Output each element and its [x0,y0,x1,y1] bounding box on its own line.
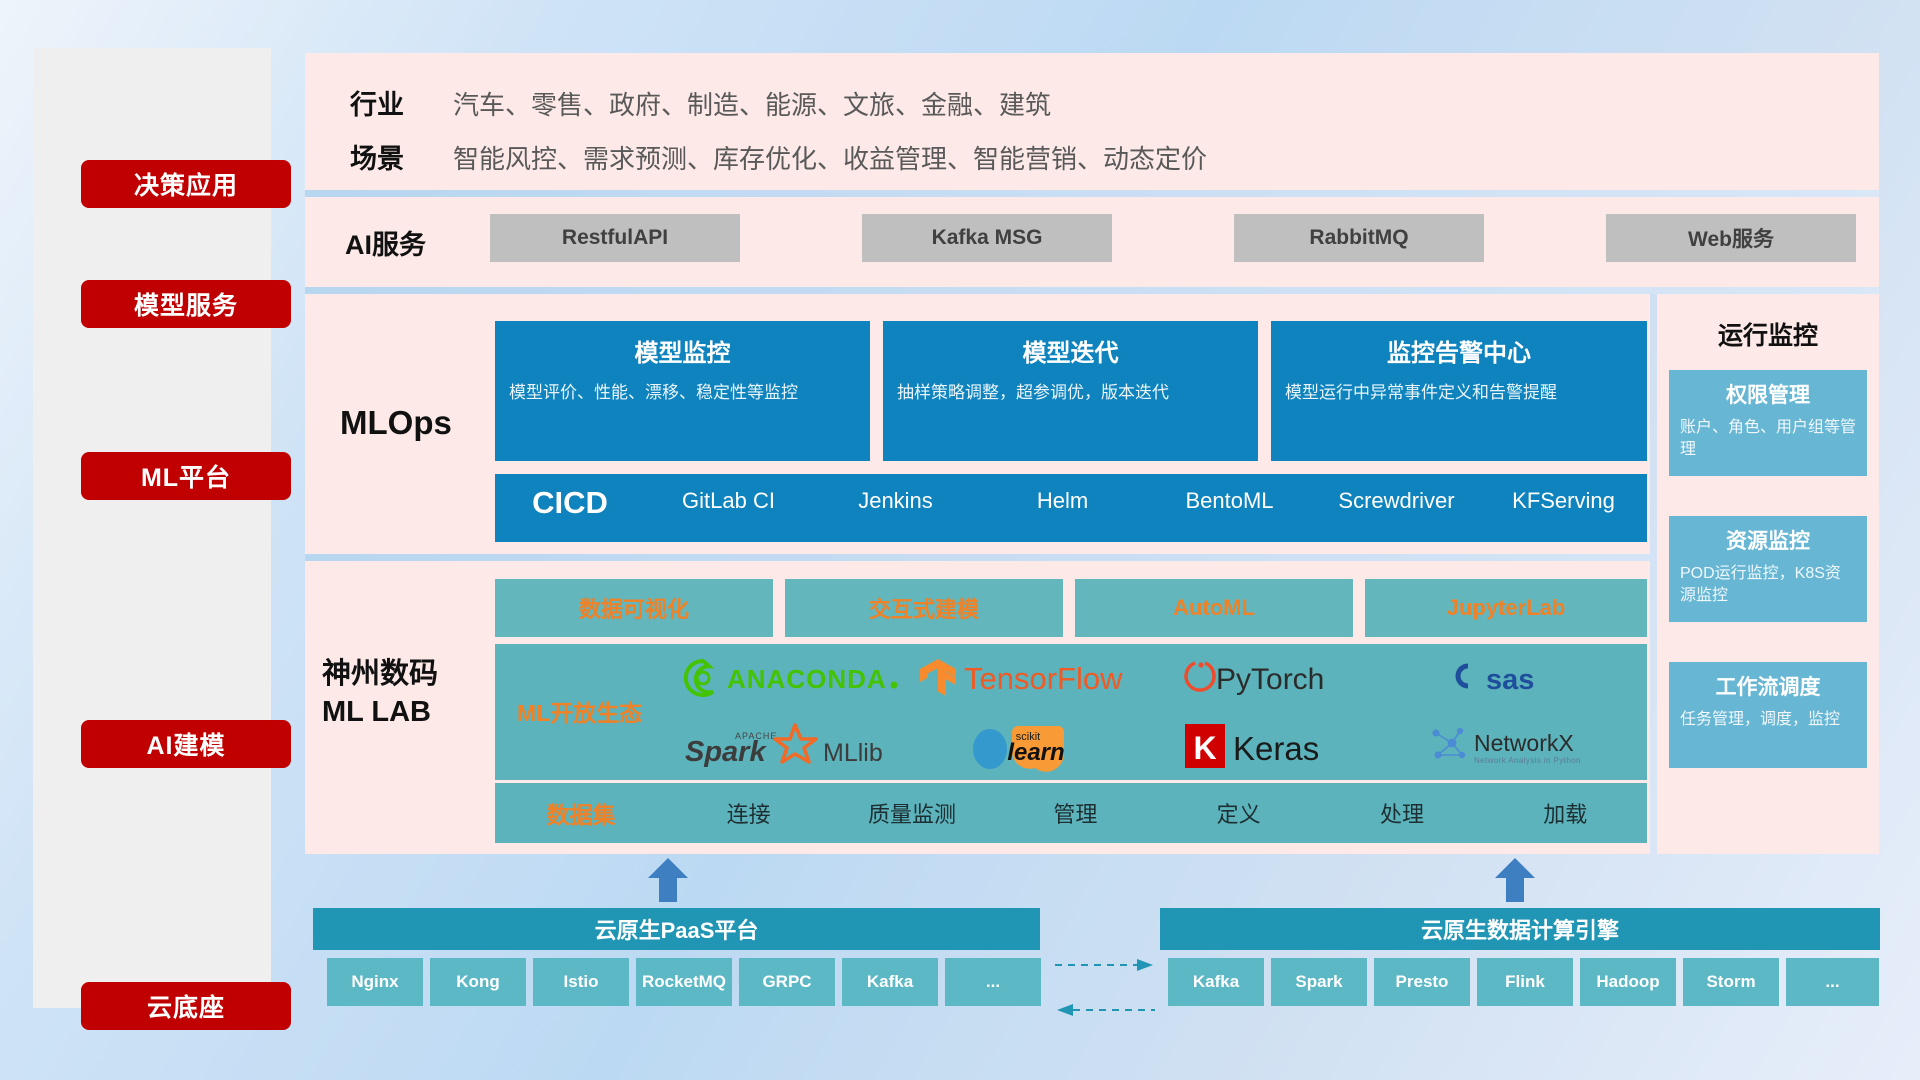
cloud-data-engine-bar[interactable]: 云原生数据计算引擎 [1160,908,1880,950]
tech-chip-nginx[interactable]: Nginx [327,958,423,1006]
dashed-arrow-right [1055,955,1155,975]
dataset-item-load[interactable]: 加载 [1484,797,1647,829]
up-arrow-paas [647,858,689,902]
chip-label: GRPC [762,972,811,991]
spark-mllib-logo: APACHE Spark MLlib [677,721,907,771]
tool-chip-jupyterlab[interactable]: JupyterLab [1365,579,1647,637]
scikit-learn-logo: scikit learn [960,720,1110,772]
ml-ecosystem-panel: ML开放生态 ANACONDA [495,644,1647,780]
chip-label: Spark [1295,972,1342,991]
chip-label: 数据可视化 [579,592,689,624]
cloud-paas-bar[interactable]: 云原生PaaS平台 [313,908,1040,950]
tool-chip-interactive-modeling[interactable]: 交互式建模 [785,579,1063,637]
dataset-item-connect[interactable]: 连接 [667,797,830,829]
rail-item-label: ML平台 [141,458,231,494]
card-desc: 抽样策略调整，超参调优，版本迭代 [897,381,1244,406]
dataset-item-quality[interactable]: 质量监测 [830,797,993,829]
tech-chip-more-data[interactable]: ... [1786,958,1879,1006]
tool-chip-automl[interactable]: AutoML [1075,579,1353,637]
scenario-value: 智能风控、需求预测、库存优化、收益管理、智能营销、动态定价 [453,139,1207,176]
chip-label: RabbitMQ [1309,226,1408,250]
card-desc: POD运行监控，K8S资源监控 [1680,563,1856,608]
left-rail: 决策应用 模型服务 ML平台 AI建模 云底座 [33,48,271,1008]
scenario-key: 场景 [350,137,404,176]
dataset-bar: 数据集 连接 质量监测 管理 定义 处理 加载 [495,783,1647,843]
modeling-row-label-line1: 神州数码 [322,655,522,693]
runtime-monitoring-column: 运行监控 权限管理 账户、角色、用户组等管理 资源监控 POD运行监控，K8S资… [1657,294,1879,854]
ml-ecosystem-logo-grid: ANACONDA TensorFlow [670,644,1643,780]
cicd-item-jenkins[interactable]: Jenkins [812,474,979,514]
tech-chip-grpc[interactable]: GRPC [739,958,835,1006]
chip-label: ... [1825,972,1839,991]
chip-label: RocketMQ [642,972,726,991]
tool-chip-data-visualization[interactable]: 数据可视化 [495,579,773,637]
keras-logo: K Keras [1183,722,1373,770]
chip-label: Istio [564,972,599,991]
tech-chip-kafka-paas[interactable]: Kafka [842,958,938,1006]
sas-logo: sas [1446,658,1596,698]
rail-item-cloud-base[interactable]: 云底座 [81,982,291,1030]
industry-scenario-band: 行业 汽车、零售、政府、制造、能源、文旅、金融、建筑 场景 智能风控、需求预测、… [305,53,1879,190]
chip-label: AutoML [1173,595,1255,621]
card-desc: 任务管理，调度，监控 [1680,709,1856,731]
band-separator [305,190,1879,197]
rail-item-label: 模型服务 [134,286,238,322]
up-arrow-data-engine [1494,858,1536,902]
chip-label: RestfulAPI [562,226,668,250]
svg-text:learn: learn [1007,739,1064,766]
mlops-card-alert-center[interactable]: 监控告警中心 模型运行中异常事件定义和告警提醒 [1271,321,1647,461]
rail-item-decision-app[interactable]: 决策应用 [81,160,291,208]
chip-label: 交互式建模 [869,592,979,624]
architecture-diagram: 决策应用 模型服务 ML平台 AI建模 云底座 行业 汽车、零售、政府、制造、能… [0,0,1920,1080]
industry-key: 行业 [350,83,404,122]
card-title: 工作流调度 [1680,671,1856,701]
cicd-item-bentoml[interactable]: BentoML [1146,474,1313,514]
rail-item-model-service[interactable]: 模型服务 [81,280,291,328]
cicd-item-kfserving[interactable]: KFServing [1480,474,1647,514]
rail-item-label: 云底座 [147,988,225,1024]
tech-chip-kong[interactable]: Kong [430,958,526,1006]
svg-text:sas: sas [1486,664,1534,696]
cloud-data-engine-title: 云原生数据计算引擎 [1421,913,1619,945]
svg-text:K: K [1194,730,1217,766]
chip-label: Kafka MSG [932,226,1043,250]
pytorch-logo: PyTorch [1178,657,1378,699]
band-separator [305,287,1879,294]
dataset-item-process[interactable]: 处理 [1320,797,1483,829]
mlops-row-label: MLOps [340,398,510,448]
dataset-title: 数据集 [495,796,667,830]
ai-service-chip-kafka-msg[interactable]: Kafka MSG [862,214,1112,262]
mlops-card-model-iteration[interactable]: 模型迭代 抽样策略调整，超参调优，版本迭代 [883,321,1258,461]
tech-chip-istio[interactable]: Istio [533,958,629,1006]
tech-chip-kafka[interactable]: Kafka [1168,958,1264,1006]
dataset-item-define[interactable]: 定义 [1157,797,1320,829]
monitor-card-permission[interactable]: 权限管理 账户、角色、用户组等管理 [1669,370,1867,476]
svg-text:Keras: Keras [1233,730,1319,767]
card-desc: 模型评价、性能、漂移、稳定性等监控 [509,381,856,406]
ai-service-chip-rabbitmq[interactable]: RabbitMQ [1234,214,1484,262]
svg-text:ANACONDA: ANACONDA [727,664,887,694]
card-title: 模型监控 [509,333,856,368]
card-desc: 账户、角色、用户组等管理 [1680,417,1856,462]
ai-service-chip-restfulapi[interactable]: RestfulAPI [490,214,740,262]
svg-text:NetworkX: NetworkX [1474,730,1574,756]
tech-chip-flink[interactable]: Flink [1477,958,1573,1006]
cicd-item-helm[interactable]: Helm [979,474,1146,514]
monitor-card-resource[interactable]: 资源监控 POD运行监控，K8S资源监控 [1669,516,1867,622]
ai-service-row-label: AI服务 [345,222,495,262]
ml-ecosystem-title: ML开放生态 [517,694,687,728]
cicd-item-screwdriver[interactable]: Screwdriver [1313,474,1480,514]
svg-text:PyTorch: PyTorch [1216,663,1324,696]
cicd-title: CICD [495,474,645,521]
tech-chip-hadoop[interactable]: Hadoop [1580,958,1676,1006]
rail-item-label: AI建模 [146,726,225,762]
mlops-card-model-monitoring[interactable]: 模型监控 模型评价、性能、漂移、稳定性等监控 [495,321,870,461]
card-desc: 模型运行中异常事件定义和告警提醒 [1285,381,1633,406]
card-title: 权限管理 [1680,379,1856,409]
chip-label: Flink [1505,972,1545,991]
chip-label: Hadoop [1596,972,1659,991]
chip-label: Storm [1706,972,1755,991]
rail-item-ml-platform[interactable]: ML平台 [81,452,291,500]
chip-label: Kafka [867,972,913,991]
industry-value: 汽车、零售、政府、制造、能源、文旅、金融、建筑 [453,85,1051,122]
chip-label: Presto [1396,972,1449,991]
tech-chip-presto[interactable]: Presto [1374,958,1470,1006]
chip-label: JupyterLab [1447,595,1566,621]
band-separator [305,554,1879,561]
modeling-row-label-line2: ML LAB [322,693,522,731]
svg-text:MLlib: MLlib [823,739,883,767]
svg-text:Spark: Spark [685,736,767,768]
chip-label: Kafka [1193,972,1239,991]
rail-item-label: 决策应用 [134,166,238,202]
tech-chip-storm[interactable]: Storm [1683,958,1779,1006]
chip-label: Kong [456,972,499,991]
monitor-card-workflow[interactable]: 工作流调度 任务管理，调度，监控 [1669,662,1867,768]
dashed-arrow-left [1055,1000,1155,1020]
card-title: 模型迭代 [897,333,1244,368]
modeling-row-label: 神州数码 ML LAB [322,655,522,732]
runtime-monitoring-title: 运行监控 [1657,316,1879,352]
networkx-logo: NetworkX Network Analysis in Python [1426,723,1616,769]
cloud-paas-title: 云原生PaaS平台 [595,913,759,945]
tech-chip-more-paas[interactable]: ... [945,958,1041,1006]
rail-item-ai-modeling[interactable]: AI建模 [81,720,291,768]
cicd-bar: CICD GitLab CI Jenkins Helm BentoML Scre… [495,474,1647,542]
svg-text:TensorFlow: TensorFlow [964,661,1123,696]
chip-label: ... [986,972,1000,991]
card-title: 资源监控 [1680,525,1856,555]
tech-chip-spark[interactable]: Spark [1271,958,1367,1006]
cicd-item-gitlab-ci[interactable]: GitLab CI [645,474,812,514]
ai-service-band: RestfulAPI Kafka MSG RabbitMQ Web服务 [305,197,1879,287]
ai-service-chip-web-service[interactable]: Web服务 [1606,214,1856,262]
tensorflow-logo: TensorFlow [920,656,1150,700]
tech-chip-rocketmq[interactable]: RocketMQ [636,958,732,1006]
chip-label: Nginx [351,972,398,991]
svg-text:Network Analysis in Python: Network Analysis in Python [1474,756,1581,765]
chip-label: Web服务 [1688,223,1774,253]
anaconda-logo: ANACONDA [683,657,901,699]
card-title: 监控告警中心 [1285,333,1633,368]
dataset-item-manage[interactable]: 管理 [994,797,1157,829]
